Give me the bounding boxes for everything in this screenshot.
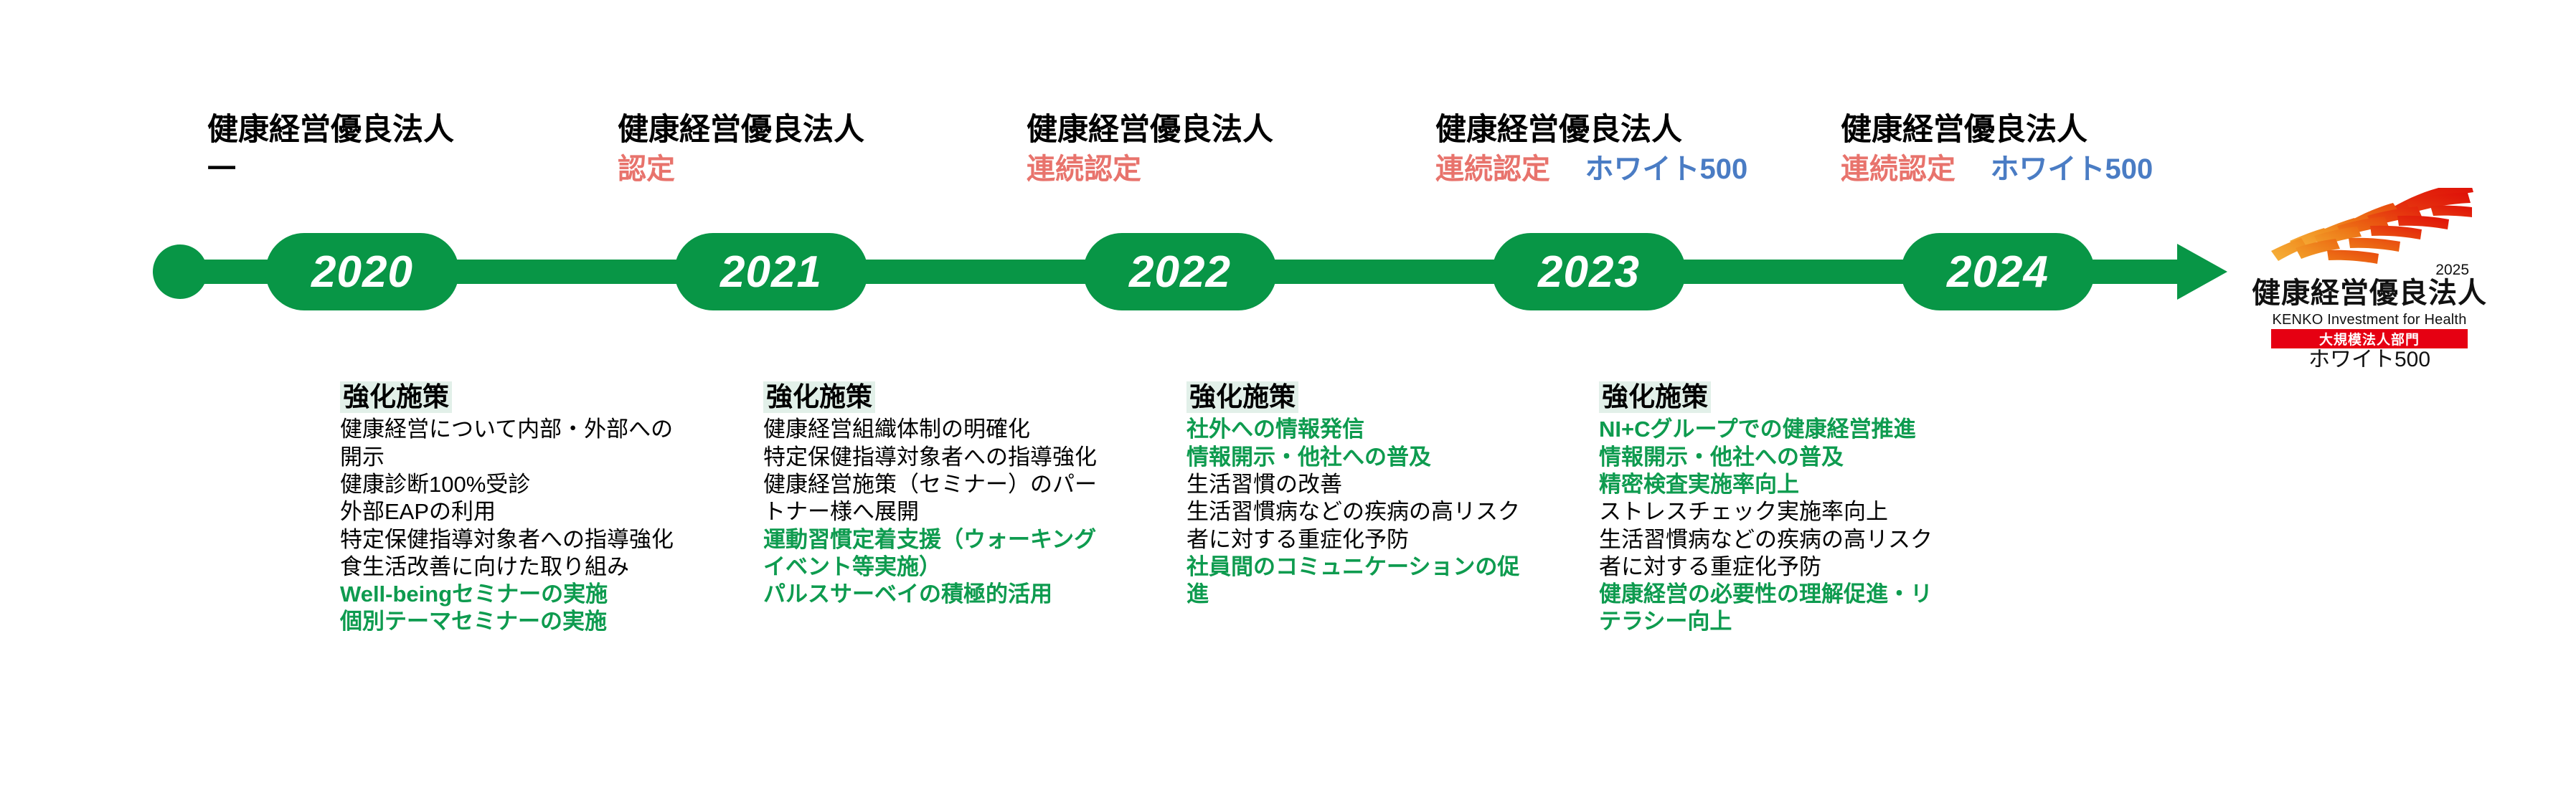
measure-item-highlighted: パルスサーベイの積極的活用 [763, 581, 1112, 608]
measure-item: 生活習慣病などの疾病の高リスク者に対する重症化予防 [1599, 526, 1948, 581]
timeline-node-2022[interactable]: 2022 [1083, 233, 1277, 310]
measure-item: 健康経営について内部・外部への開示 [340, 416, 689, 471]
measure-item-highlighted: 運動習慣定着支援（ウォーキングイベント等実施） [763, 526, 1112, 581]
white500-badge-label: ホワイト500 [1990, 155, 2153, 184]
measure-item-highlighted: 精密検査実施率向上 [1599, 471, 1948, 498]
measure-item: ストレスチェック実施率向上 [1599, 498, 1948, 526]
white500-badge-label: ホワイト500 [1585, 155, 1747, 184]
measure-item-highlighted: 情報開示・他社への普及 [1186, 444, 1535, 471]
kenko-certification-logo: 2025 健康経営優良法人 KENKO Investment for Healt… [2251, 188, 2488, 363]
measure-item: 外部EAPの利用 [340, 498, 689, 526]
timeline-infographic: 健康経営優良法人 一 健康経営優良法人 認定 健康経営優良法人 連続認定 健康経… [0, 0, 2576, 803]
certification-status-label: 認定 [618, 155, 675, 184]
measure-item-highlighted: NI+Cグループでの健康経営推進 [1599, 416, 1948, 443]
certification-status-label: 連続認定 [1841, 155, 1955, 184]
year-header-2022: 健康経営優良法人 連続認定 [1027, 115, 1273, 184]
year-header-title: 健康経営優良法人 [1435, 115, 1747, 146]
year-header-title: 健康経営優良法人 [618, 115, 864, 146]
year-header-title: 健康経営優良法人 [1841, 115, 2153, 146]
measure-item-highlighted: 個別テーマセミナーの実施 [340, 608, 689, 635]
logo-title-en: KENKO Investment for Health [2251, 313, 2488, 327]
logo-grade-label: ホワイト500 [2251, 349, 2488, 371]
measures-column-title: 強化施策 [1599, 381, 1711, 413]
measures-column-2021: 強化施策 健康経営組織体制の明確化 特定保健指導対象者への指導強化 健康経営施策… [763, 381, 1112, 608]
measure-item: 健康経営組織体制の明確化 [763, 416, 1112, 443]
year-header-status-row: 連続認定 ホワイト500 [1841, 155, 2153, 184]
year-header-status-row: 連続認定 ホワイト500 [1435, 155, 1747, 184]
timeline-arrow-shaft [2087, 260, 2181, 284]
measures-list: 健康経営について内部・外部への開示 健康診断100%受診 外部EAPの利用 特定… [340, 416, 689, 635]
timeline-segment-start [178, 260, 271, 284]
timeline-segment-2021-2022 [861, 260, 1090, 284]
measure-item: 生活習慣の改善 [1186, 471, 1535, 498]
timeline-node-2023[interactable]: 2023 [1492, 233, 1686, 310]
measures-list: 社外への情報発信 情報開示・他社への普及 生活習慣の改善 生活習慣病などの疾病の… [1186, 416, 1535, 608]
timeline-segment-2022-2023 [1270, 260, 1499, 284]
timeline-segment-2020-2021 [452, 260, 681, 284]
logo-title-jp: 健康経営優良法人 [2251, 279, 2488, 308]
measures-column-2020: 強化施策 健康経営について内部・外部への開示 健康診断100%受診 外部EAPの… [340, 381, 689, 636]
measure-item-highlighted: 社外への情報発信 [1186, 416, 1535, 443]
measure-item: 食生活改善に向けた取り組み [340, 553, 689, 581]
measures-list: NI+Cグループでの健康経営推進 情報開示・他社への普及 精密検査実施率向上 ス… [1599, 416, 1948, 635]
measure-item: 特定保健指導対象者への指導強化 [340, 526, 689, 553]
year-header-status-row: 一 [207, 155, 454, 184]
logo-category-badge: 大規模法人部門 [2271, 329, 2468, 348]
measures-column-title: 強化施策 [763, 381, 875, 413]
measures-column-title: 強化施策 [340, 381, 452, 413]
logo-year: 2025 [2435, 262, 2469, 277]
year-header-2023: 健康経営優良法人 連続認定 ホワイト500 [1435, 115, 1747, 184]
certification-status-label: 連続認定 [1027, 155, 1141, 184]
timeline-arrow-head-icon [2177, 244, 2227, 300]
certification-status-label: 一 [207, 155, 236, 184]
year-header-status-row: 認定 [618, 155, 864, 184]
year-header-title: 健康経営優良法人 [1027, 115, 1273, 146]
measure-item-highlighted: 情報開示・他社への普及 [1599, 444, 1948, 471]
measure-item: 健康経営施策（セミナー）のパートナー様へ展開 [763, 471, 1112, 526]
timeline-track: 2020 2021 2022 2023 2024 [0, 215, 2576, 330]
measure-item: 特定保健指導対象者への指導強化 [763, 444, 1112, 471]
measures-column-2023: 強化施策 NI+Cグループでの健康経営推進 情報開示・他社への普及 精密検査実施… [1599, 381, 1948, 636]
measure-item: 健康診断100%受診 [340, 471, 689, 498]
year-header-2024: 健康経営優良法人 連続認定 ホワイト500 [1841, 115, 2153, 184]
year-header-2020: 健康経営優良法人 一 [207, 115, 454, 184]
measure-item-highlighted: 社員間のコミュニケーションの促進 [1186, 553, 1535, 609]
measures-column-2022: 強化施策 社外への情報発信 情報開示・他社への普及 生活習慣の改善 生活習慣病な… [1186, 381, 1535, 608]
measure-item-highlighted: Well-beingセミナーの実施 [340, 581, 689, 608]
certification-status-label: 連続認定 [1435, 155, 1550, 184]
year-header-2021: 健康経営優良法人 認定 [618, 115, 864, 184]
timeline-node-2021[interactable]: 2021 [674, 233, 868, 310]
timeline-node-2020[interactable]: 2020 [265, 233, 459, 310]
measures-list: 健康経営組織体制の明確化 特定保健指導対象者への指導強化 健康経営施策（セミナー… [763, 416, 1112, 608]
timeline-segment-2023-2024 [1679, 260, 1908, 284]
year-header-status-row: 連続認定 [1027, 155, 1273, 184]
measure-item-highlighted: 健康経営の必要性の理解促進・リテラシー向上 [1599, 581, 1948, 636]
timeline-node-2024[interactable]: 2024 [1901, 233, 2095, 310]
measures-column-title: 強化施策 [1186, 381, 1298, 413]
measure-item: 生活習慣病などの疾病の高リスク者に対する重症化予防 [1186, 498, 1535, 553]
year-header-title: 健康経営優良法人 [207, 115, 454, 146]
